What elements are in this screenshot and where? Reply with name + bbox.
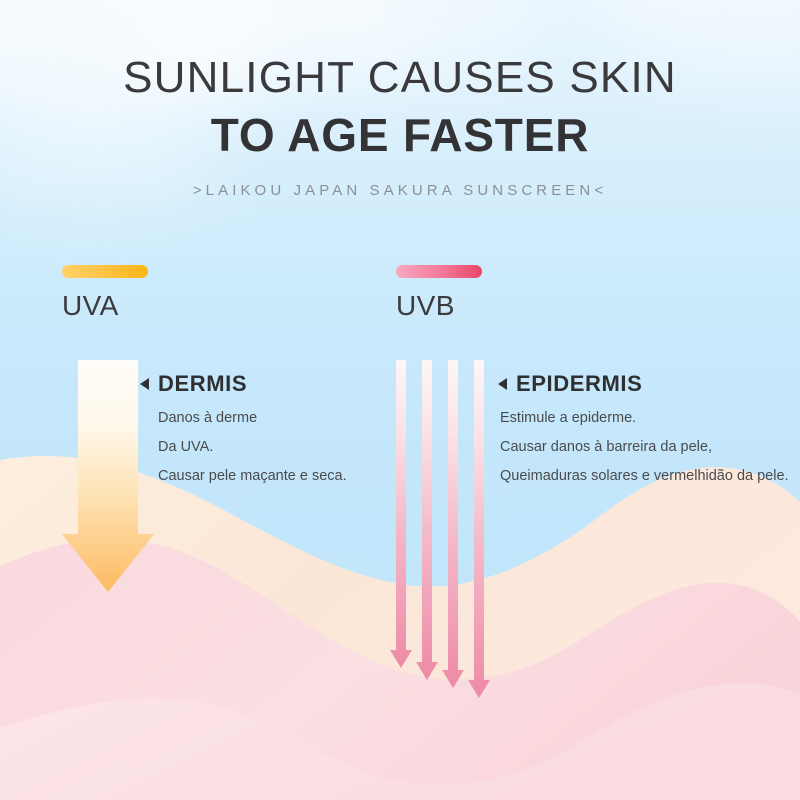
dermis-line: Causar pele maçante e seca. [158, 467, 390, 485]
epidermis-line: Causar danos à barreira da pele, [500, 438, 798, 456]
sunscreen-infographic: SUNLIGHT CAUSES SKIN TO AGE FASTER >LAIK… [0, 0, 800, 800]
dermis-line: Danos à derme [158, 409, 390, 427]
dermis-line: Da UVA. [158, 438, 390, 456]
dermis-heading-label: DERMIS [158, 371, 247, 397]
uva-label: UVA [62, 290, 148, 322]
uvb-label: UVB [396, 290, 482, 322]
epidermis-info-block: EPIDERMIS Estimule a epiderme. Causar da… [498, 371, 798, 485]
dermis-description: Danos à derme Da UVA. Causar pele maçant… [158, 409, 390, 485]
brand-subtitle: >LAIKOU JAPAN SAKURA SUNSCREEN< [0, 182, 800, 199]
dermis-info-block: DERMIS Danos à derme Da UVA. Causar pele… [140, 371, 390, 485]
epidermis-heading-label: EPIDERMIS [516, 371, 642, 397]
epidermis-line: Estimule a epiderme. [500, 409, 798, 427]
uvb-color-bar [396, 265, 482, 278]
headline-line-2: TO AGE FASTER [0, 108, 800, 163]
uva-legend: UVA [62, 265, 148, 322]
triangle-left-icon [498, 378, 507, 390]
headline: SUNLIGHT CAUSES SKIN TO AGE FASTER [0, 52, 800, 163]
triangle-left-icon [140, 378, 149, 390]
uva-color-bar [62, 265, 148, 278]
uvb-legend: UVB [396, 265, 482, 322]
epidermis-heading: EPIDERMIS [498, 371, 798, 397]
epidermis-description: Estimule a epiderme. Causar danos à barr… [500, 409, 798, 485]
headline-line-1: SUNLIGHT CAUSES SKIN [0, 52, 800, 104]
dermis-heading: DERMIS [140, 371, 390, 397]
epidermis-line: Queimaduras solares e vermelhidão da pel… [500, 467, 798, 485]
